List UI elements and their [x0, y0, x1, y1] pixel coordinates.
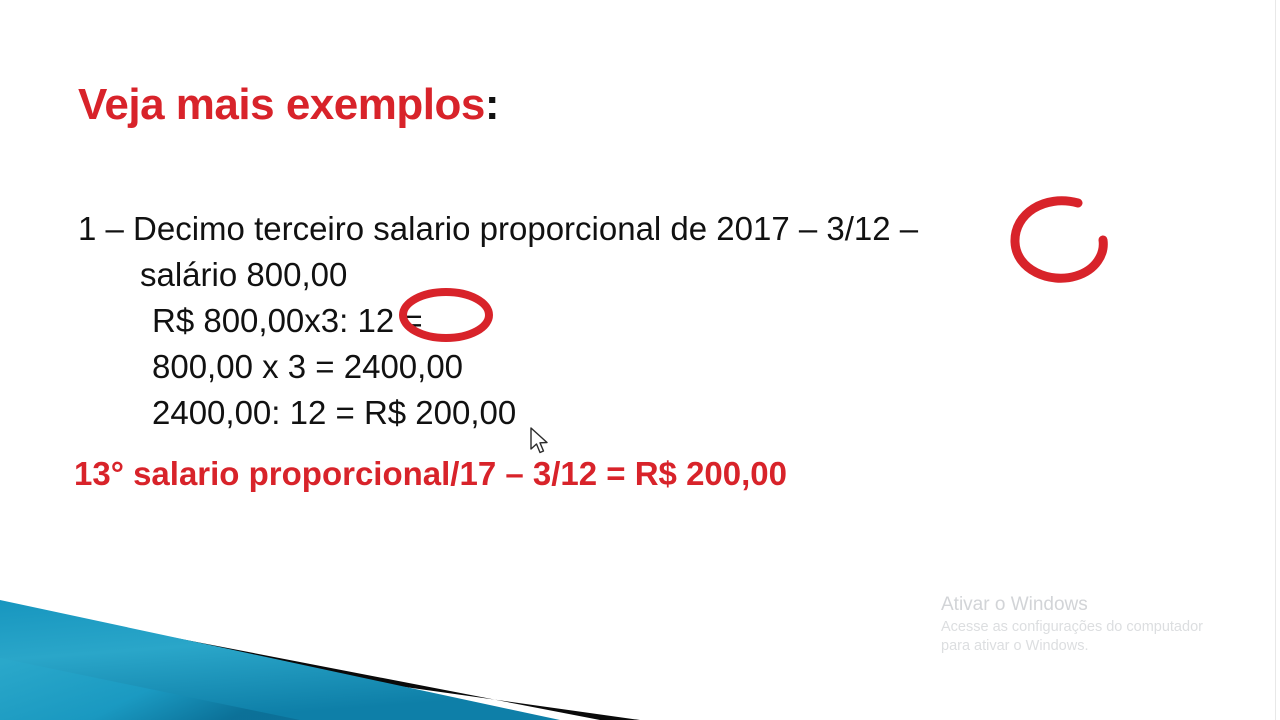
teal-secondary-band — [0, 658, 300, 720]
body-line-3: R$ 800,00x3: 12 = — [78, 298, 1208, 344]
body-line-2: salário 800,00 — [78, 252, 1208, 298]
black-diagonal-stripe — [0, 604, 640, 720]
slide-title-text: Veja mais exemplos — [78, 80, 485, 129]
conclusion-line: 13° salario proporcional/17 – 3/12 = R$ … — [74, 455, 787, 493]
window-right-edge — [1275, 0, 1276, 720]
body-line-4: 800,00 x 3 = 2400,00 — [78, 344, 1208, 390]
decorative-corner-graphic — [0, 570, 640, 720]
slide-title: Veja mais exemplos: — [78, 80, 499, 130]
body-line-5: 2400,00: 12 = R$ 200,00 — [78, 390, 1208, 436]
teal-diagonal-band — [0, 600, 560, 720]
activation-title: Ativar o Windows — [941, 592, 1241, 618]
presentation-slide: Veja mais exemplos: 1 – Decimo terceiro … — [0, 0, 1280, 720]
slide-title-punctuation: : — [485, 80, 499, 129]
body-line-1: 1 – Decimo terceiro salario proporcional… — [78, 206, 1208, 252]
slide-body-text: 1 – Decimo terceiro salario proporcional… — [78, 206, 1208, 436]
activation-subtitle: Acesse as configurações do computador pa… — [941, 618, 1231, 656]
windows-activation-watermark: Ativar o Windows Acesse as configurações… — [941, 592, 1241, 656]
